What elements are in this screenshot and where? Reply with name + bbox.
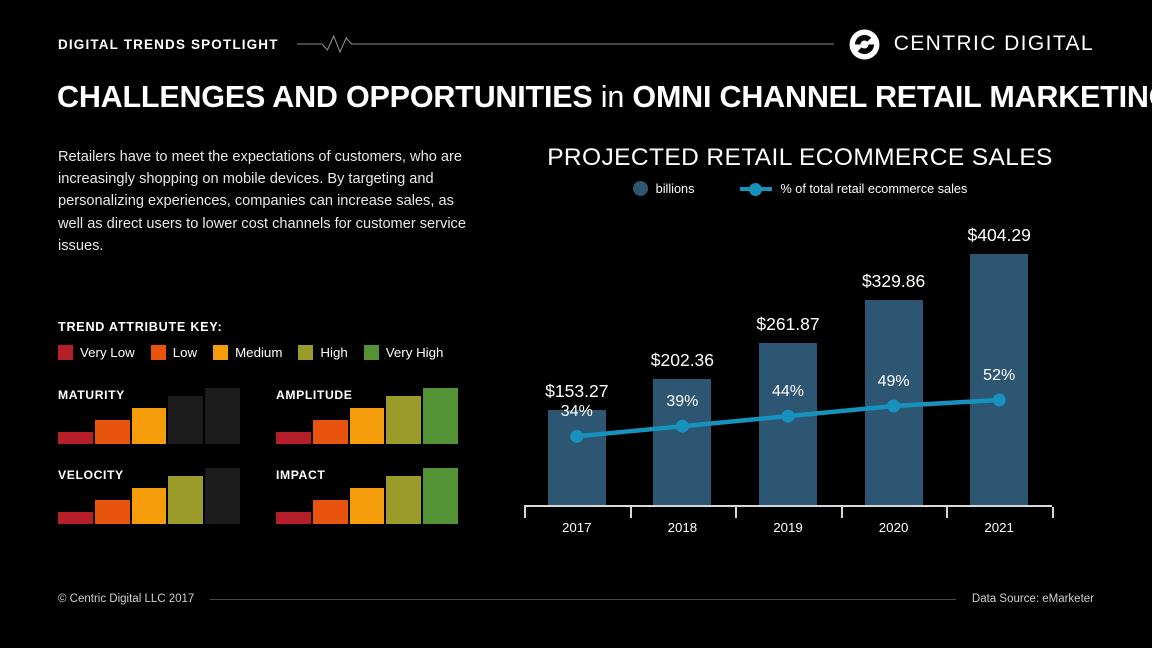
bar-value-label: $261.87 — [756, 314, 819, 335]
legend-dot-icon — [633, 181, 648, 196]
attribute-bar — [95, 500, 130, 524]
title-connector: in — [601, 80, 624, 114]
chart-legend-item: billions — [633, 181, 695, 196]
trend-key-legend: Very LowLowMediumHighVery High — [58, 345, 459, 360]
attribute-bar — [276, 512, 311, 524]
centric-circle-logo-icon — [848, 28, 881, 61]
attribute-bar — [58, 432, 93, 444]
data-source-text: Data Source: eMarketer — [972, 593, 1094, 605]
trend-key-swatch — [151, 345, 166, 360]
trend-key-swatch — [298, 345, 313, 360]
bar-slot: $329.86 — [841, 300, 947, 505]
percent-value-label: 52% — [983, 367, 1015, 385]
attribute-bar — [132, 408, 167, 444]
brand-name: CENTRIC DIGITAL — [894, 32, 1094, 56]
chart-legend-label: % of total retail ecommerce sales — [780, 182, 967, 196]
title-part-1: CHALLENGES AND OPPORTUNITIES — [57, 80, 601, 114]
x-axis-tick — [524, 507, 526, 518]
attribute-bar — [350, 488, 385, 524]
x-axis-tick — [1052, 507, 1054, 518]
chart-legend: billions% of total retail ecommerce sale… — [520, 181, 1080, 196]
attribute-block: IMPACT — [276, 468, 458, 524]
attribute-bar — [313, 420, 348, 444]
header: DIGITAL TRENDS SPOTLIGHT CENTRIC DIGITAL — [58, 30, 1094, 58]
trend-key-item: High — [298, 345, 347, 360]
attribute-name: AMPLITUDE — [276, 388, 353, 402]
x-axis-tick — [841, 507, 843, 518]
x-axis-label: 2021 — [946, 520, 1052, 542]
attribute-bar — [132, 488, 167, 524]
x-axis-label: 2017 — [524, 520, 630, 542]
x-axis-label: 2020 — [841, 520, 947, 542]
trend-key-item: Medium — [213, 345, 282, 360]
percent-value-label: 34% — [561, 403, 593, 421]
trend-key-label: Very High — [386, 345, 444, 360]
bar-slot: $153.27 — [524, 410, 630, 505]
page-title: CHALLENGES AND OPPORTUNITIES in OMNI CHA… — [57, 80, 1117, 115]
bar-value-label: $404.29 — [968, 225, 1031, 246]
percent-value-label: 39% — [666, 393, 698, 411]
eyebrow-label: DIGITAL TRENDS SPOTLIGHT — [58, 37, 279, 52]
chart-title: PROJECTED RETAIL ECOMMERCE SALES — [520, 144, 1080, 172]
legend-line-icon — [740, 181, 772, 196]
attribute-bar — [350, 408, 385, 444]
trend-key-label: Low — [173, 345, 197, 360]
attribute-row: VELOCITYIMPACT — [58, 468, 458, 524]
attribute-block: MATURITY — [58, 388, 240, 444]
attribute-block: VELOCITY — [58, 468, 240, 524]
footer-divider — [210, 599, 956, 600]
trend-key-swatch — [58, 345, 73, 360]
bar-slot: $261.87 — [735, 343, 841, 505]
title-part-2: OMNI CHANNEL RETAIL MARKETING — [624, 80, 1152, 114]
chart-bar: $329.86 — [865, 300, 923, 505]
chart-legend-item: % of total retail ecommerce sales — [740, 181, 967, 196]
trend-key-title: TREND ATTRIBUTE KEY: — [58, 320, 222, 334]
attribute-bar — [168, 396, 203, 444]
attribute-bar — [58, 512, 93, 524]
attribute-bar — [386, 476, 421, 524]
percent-value-label: 49% — [878, 373, 910, 391]
brand: CENTRIC DIGITAL — [848, 28, 1094, 61]
trend-key-label: High — [320, 345, 347, 360]
x-axis-tick — [630, 507, 632, 518]
x-axis-label: 2018 — [630, 520, 736, 542]
x-axis-ticks — [524, 507, 1052, 518]
trend-key-swatch — [213, 345, 228, 360]
bar-value-label: $153.27 — [545, 381, 608, 402]
trend-key-item: Very Low — [58, 345, 135, 360]
percent-value-label: 44% — [772, 383, 804, 401]
infographic-page: DIGITAL TRENDS SPOTLIGHT CENTRIC DIGITAL… — [0, 0, 1152, 648]
attribute-bar — [205, 468, 240, 524]
attribute-bar — [313, 500, 348, 524]
attribute-name: IMPACT — [276, 468, 325, 482]
attribute-bar — [423, 388, 458, 444]
trend-key-item: Low — [151, 345, 197, 360]
attribute-bar — [168, 476, 203, 524]
trend-key-item: Very High — [364, 345, 444, 360]
chart-bar: $153.27 — [548, 410, 606, 505]
bar-series: $153.27$202.36$261.87$329.86$404.29 — [524, 232, 1052, 505]
footer: © Centric Digital LLC 2017 Data Source: … — [58, 593, 1094, 605]
attribute-bar — [276, 432, 311, 444]
chart-bar: $261.87 — [759, 343, 817, 505]
attribute-bar — [95, 420, 130, 444]
x-axis-label: 2019 — [735, 520, 841, 542]
trend-key-label: Medium — [235, 345, 282, 360]
attribute-name: VELOCITY — [58, 468, 124, 482]
attribute-block: AMPLITUDE — [276, 388, 458, 444]
pulse-line-icon — [297, 32, 834, 56]
trend-key-swatch — [364, 345, 379, 360]
attribute-bar — [386, 396, 421, 444]
x-axis-labels: 20172018201920202021 — [524, 520, 1052, 542]
attribute-row: MATURITYAMPLITUDE — [58, 388, 458, 444]
trend-key-label: Very Low — [80, 345, 135, 360]
x-axis-tick — [735, 507, 737, 518]
chart-legend-label: billions — [656, 182, 695, 196]
attribute-name: MATURITY — [58, 388, 125, 402]
intro-paragraph: Retailers have to meet the expectations … — [58, 146, 478, 257]
x-axis-tick — [946, 507, 948, 518]
copyright-text: © Centric Digital LLC 2017 — [58, 593, 194, 605]
chart-plot-area: $153.27$202.36$261.87$329.86$404.29 2017… — [520, 212, 1080, 542]
bar-value-label: $202.36 — [651, 350, 714, 371]
attribute-grid: MATURITYAMPLITUDEVELOCITYIMPACT — [58, 388, 458, 548]
attribute-bar — [205, 388, 240, 444]
bar-value-label: $329.86 — [862, 271, 925, 292]
attribute-bar — [423, 468, 458, 524]
